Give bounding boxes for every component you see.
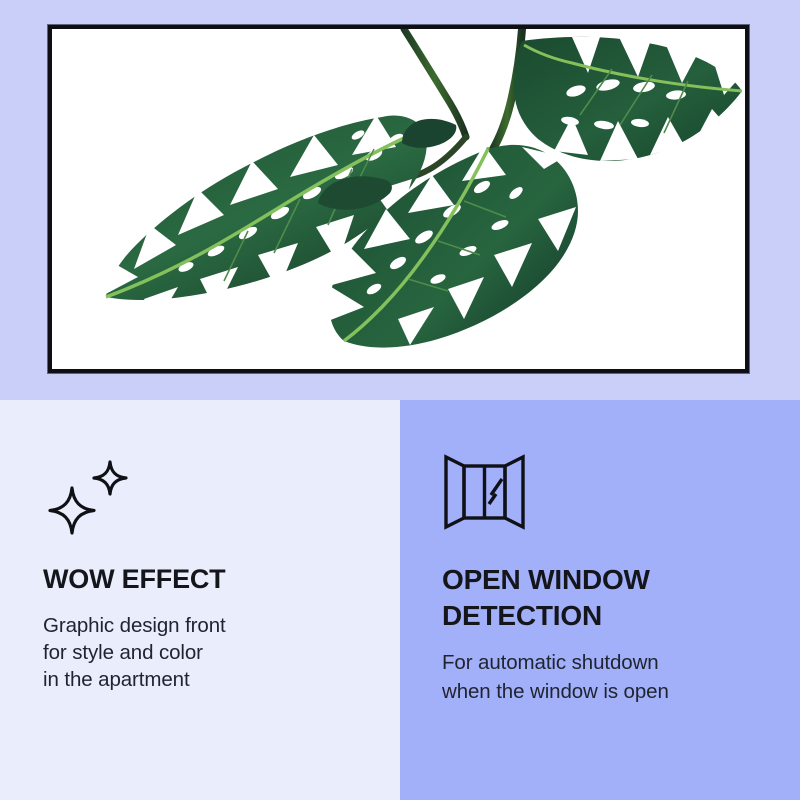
monstera-photo <box>52 29 745 369</box>
sparkles-icon <box>42 450 137 540</box>
feature-body-line: For automatic shutdown <box>442 648 786 677</box>
feature-body: Graphic design front for style and color… <box>43 612 386 693</box>
feature-body-line: for style and color <box>43 639 386 666</box>
feature-body: For automatic shutdown when the window i… <box>442 648 786 706</box>
feature-body-line: in the apartment <box>43 666 386 693</box>
feature-card-open-window-detection: OPEN WINDOW DETECTION For automatic shut… <box>400 400 800 800</box>
feature-heading-line: WOW EFFECT <box>43 564 378 595</box>
feature-card-wow-effect: WOW EFFECT Graphic design front for styl… <box>0 400 400 800</box>
frame-mat <box>52 29 745 369</box>
open-window-icon <box>442 452 527 532</box>
feature-heading-line: OPEN WINDOW <box>442 562 778 598</box>
feature-infographic: WOW EFFECT Graphic design front for styl… <box>0 0 800 800</box>
hero-section <box>0 0 800 400</box>
feature-body-line: Graphic design front <box>43 612 386 639</box>
picture-frame <box>48 25 749 373</box>
feature-heading: WOW EFFECT <box>43 564 378 595</box>
feature-heading-line: DETECTION <box>442 598 778 634</box>
feature-body-line: when the window is open <box>442 677 786 706</box>
feature-heading: OPEN WINDOW DETECTION <box>442 562 778 634</box>
